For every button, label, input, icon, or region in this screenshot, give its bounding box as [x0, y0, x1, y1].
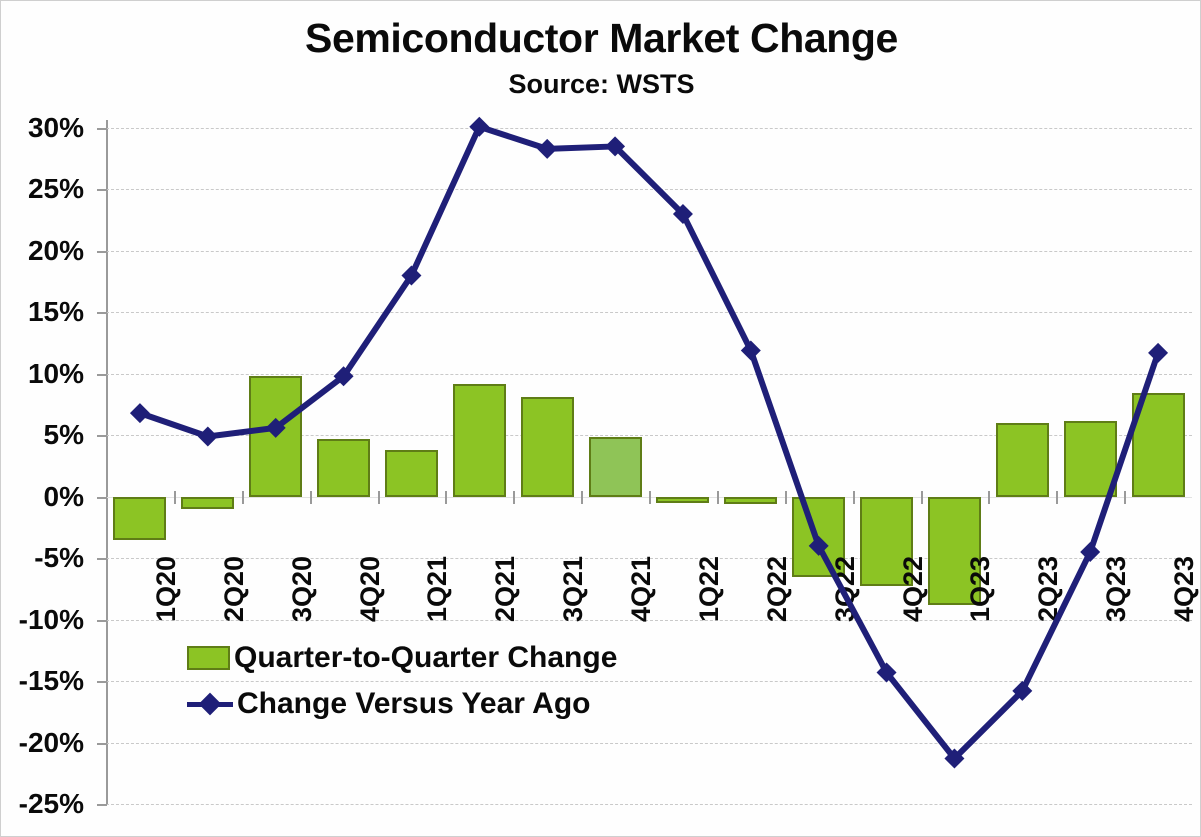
chart-legend: Quarter-to-Quarter Change Change Versus … — [187, 635, 617, 727]
y-axis-tick-label: 10% — [0, 358, 84, 390]
legend-item-line: Change Versus Year Ago — [187, 681, 617, 727]
y-axis-tick-label: 25% — [0, 173, 84, 205]
chart-subtitle: Source: WSTS — [1, 69, 1201, 100]
line-marker-3Q21 — [537, 139, 557, 159]
y-axis-tick-label: -25% — [0, 788, 84, 820]
y-axis-tick-label: -20% — [0, 727, 84, 759]
y-axis-tick-label: 15% — [0, 296, 84, 328]
chart-frame: Semiconductor Market Change Source: WSTS… — [0, 0, 1201, 837]
line-marker-2Q22 — [741, 340, 761, 360]
gridline — [106, 804, 1192, 805]
y-axis-tick — [97, 804, 107, 806]
y-axis-tick-label: -15% — [0, 665, 84, 697]
chart-title: Semiconductor Market Change — [1, 15, 1201, 62]
y-axis-tick-label: 5% — [0, 419, 84, 451]
y-axis-tick-label: 30% — [0, 112, 84, 144]
bar-swatch-icon — [187, 646, 230, 670]
legend-item-bar: Quarter-to-Quarter Change — [187, 635, 617, 681]
y-axis-tick-label: -10% — [0, 604, 84, 636]
line-marker-2Q20 — [198, 427, 218, 447]
y-axis-tick-label: 0% — [0, 481, 84, 513]
line-marker-2Q21 — [469, 117, 489, 137]
legend-label-bar: Quarter-to-Quarter Change — [234, 641, 617, 675]
line-marker-1Q20 — [130, 403, 150, 423]
line-marker-4Q23 — [1148, 343, 1168, 363]
legend-label-line: Change Versus Year Ago — [237, 687, 590, 721]
line-diamond-icon — [187, 692, 233, 716]
y-axis-tick-label: -5% — [0, 542, 84, 574]
y-axis-tick-label: 20% — [0, 235, 84, 267]
line-marker-3Q23 — [1080, 542, 1100, 562]
